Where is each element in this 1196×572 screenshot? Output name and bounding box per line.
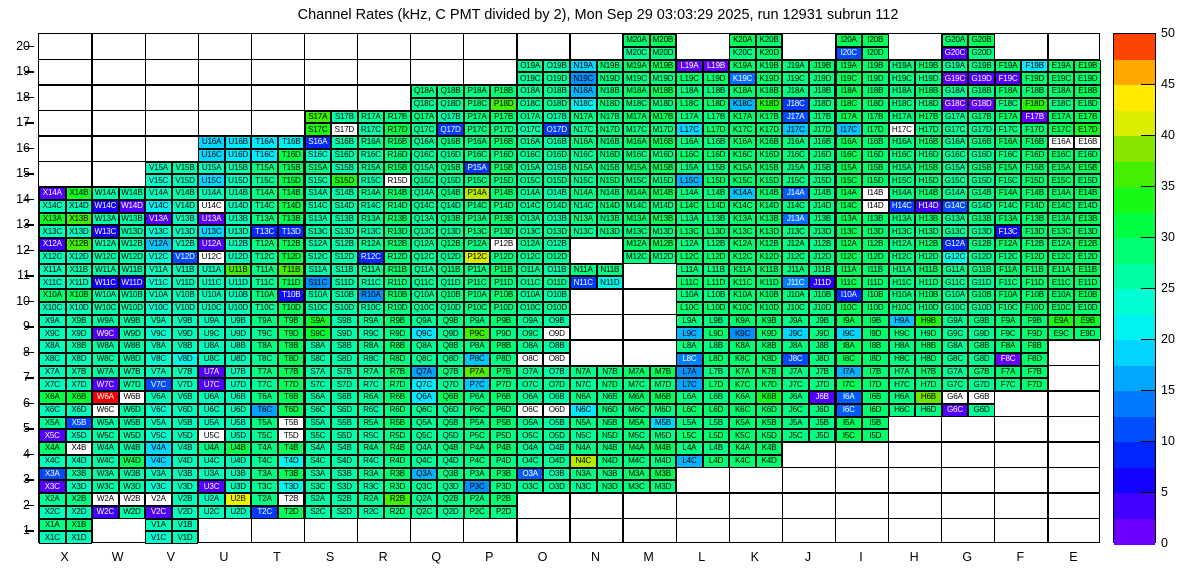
channel-cell[interactable]: V13B [172, 213, 199, 226]
channel-cell[interactable]: U7A [198, 366, 225, 379]
channel-cell[interactable]: I9D [862, 327, 889, 340]
channel-cell[interactable]: K12D [756, 251, 783, 264]
channel-cell[interactable]: H6B [915, 391, 942, 404]
channel-cell[interactable]: T5A [251, 417, 278, 430]
channel-cell[interactable]: J19C [782, 72, 809, 85]
channel-cell[interactable]: S5A [305, 417, 332, 430]
channel-cell[interactable]: L19B [703, 60, 730, 73]
channel-cell[interactable]: P6D [490, 404, 517, 417]
channel-cell[interactable]: H10D [915, 302, 942, 315]
channel-cell[interactable]: Q14D [437, 200, 464, 213]
channel-cell[interactable]: R5D [384, 429, 411, 442]
channel-cell[interactable]: U7C [198, 378, 225, 391]
channel-cell[interactable]: W6D [119, 404, 146, 417]
channel-cell[interactable]: H18B [915, 85, 942, 98]
channel-cell[interactable]: T4C [251, 455, 278, 468]
channel-cell[interactable]: S11A [305, 264, 332, 277]
channel-cell[interactable]: W8D [119, 353, 146, 366]
channel-cell[interactable]: E13B [1074, 213, 1101, 226]
channel-cell[interactable]: Q3A [411, 468, 438, 481]
channel-cell[interactable]: G6A [942, 391, 969, 404]
channel-cell[interactable]: I9B [862, 315, 889, 328]
channel-cell[interactable]: I18B [862, 85, 889, 98]
channel-cell[interactable]: X13B [66, 213, 93, 226]
channel-cell[interactable]: M5B [650, 417, 677, 430]
channel-cell[interactable]: Q11B [437, 264, 464, 277]
channel-cell[interactable]: G20B [968, 34, 995, 47]
channel-cell[interactable]: P14B [490, 187, 517, 200]
channel-cell[interactable]: P8B [490, 340, 517, 353]
channel-cell[interactable]: Q17A [411, 111, 438, 124]
channel-cell[interactable]: S11D [331, 276, 358, 289]
channel-cell[interactable]: H16A [889, 136, 916, 149]
channel-cell[interactable]: H7D [915, 378, 942, 391]
channel-cell[interactable]: O10C [517, 302, 544, 315]
channel-cell[interactable]: M20C [623, 47, 650, 60]
channel-cell[interactable]: N6B [597, 391, 624, 404]
channel-cell[interactable]: P15A [464, 162, 491, 175]
channel-cell[interactable]: V4C [145, 455, 172, 468]
channel-cell[interactable]: E18B [1074, 85, 1101, 98]
channel-cell[interactable]: F12D [1021, 251, 1048, 264]
channel-cell[interactable]: T6B [278, 391, 305, 404]
channel-cell[interactable]: V3B [172, 468, 199, 481]
channel-cell[interactable]: H14B [915, 187, 942, 200]
channel-cell[interactable]: H16D [915, 149, 942, 162]
channel-cell[interactable]: M19B [650, 60, 677, 73]
channel-cell[interactable]: K19D [756, 72, 783, 85]
channel-cell[interactable]: F16D [1021, 149, 1048, 162]
channel-cell[interactable]: P14C [464, 200, 491, 213]
channel-cell[interactable]: W3C [92, 480, 119, 493]
channel-cell[interactable]: Q16B [437, 136, 464, 149]
channel-cell[interactable]: M13C [623, 225, 650, 238]
channel-cell[interactable]: Q2D [437, 506, 464, 519]
channel-cell[interactable]: K14B [756, 187, 783, 200]
channel-cell[interactable]: P15B [490, 162, 517, 175]
channel-cell[interactable]: E10C [1048, 302, 1075, 315]
channel-cell[interactable]: G8C [942, 353, 969, 366]
channel-cell[interactable]: L6B [703, 391, 730, 404]
channel-cell[interactable]: H8A [889, 340, 916, 353]
channel-cell[interactable]: S13A [305, 213, 332, 226]
channel-cell[interactable]: I17D [862, 123, 889, 136]
channel-cell[interactable]: K8D [756, 353, 783, 366]
channel-cell[interactable]: E14B [1074, 187, 1101, 200]
channel-cell[interactable]: L7D [703, 378, 730, 391]
channel-cell[interactable]: V15B [172, 162, 199, 175]
channel-cell[interactable]: T15D [278, 174, 305, 187]
channel-cell[interactable]: S9D [331, 327, 358, 340]
channel-cell[interactable]: P2D [490, 506, 517, 519]
channel-cell[interactable]: K18A [729, 85, 756, 98]
channel-cell[interactable]: V13C [145, 225, 172, 238]
channel-cell[interactable]: L9A [676, 315, 703, 328]
channel-cell[interactable]: T2B [278, 493, 305, 506]
channel-cell[interactable]: S4A [305, 442, 332, 455]
channel-cell[interactable]: F13C [995, 225, 1022, 238]
channel-cell[interactable]: G18C [942, 98, 969, 111]
channel-cell[interactable]: M15A [623, 162, 650, 175]
channel-cell[interactable]: X7A [39, 366, 66, 379]
channel-cell[interactable]: L10B [703, 289, 730, 302]
channel-cell[interactable]: W9A [92, 315, 119, 328]
channel-cell[interactable]: U4D [225, 455, 252, 468]
channel-cell[interactable]: K9B [756, 315, 783, 328]
channel-cell[interactable]: F7B [1021, 366, 1048, 379]
channel-cell[interactable]: L6C [676, 404, 703, 417]
channel-cell[interactable]: K6A [729, 391, 756, 404]
channel-cell[interactable]: O11D [543, 276, 570, 289]
channel-cell[interactable]: M14A [623, 187, 650, 200]
channel-cell[interactable]: J15A [782, 162, 809, 175]
channel-cell[interactable]: L18B [703, 85, 730, 98]
channel-cell[interactable]: I17A [836, 111, 863, 124]
channel-cell[interactable]: J19B [809, 60, 836, 73]
channel-cell[interactable]: U9C [198, 327, 225, 340]
channel-cell[interactable]: H8C [889, 353, 916, 366]
channel-cell[interactable]: F9B [1021, 315, 1048, 328]
channel-cell[interactable]: P14A [464, 187, 491, 200]
channel-cell[interactable]: M7A [623, 366, 650, 379]
channel-cell[interactable]: R3D [384, 480, 411, 493]
channel-cell[interactable]: W6A [92, 391, 119, 404]
channel-cell[interactable]: E14D [1074, 200, 1101, 213]
channel-cell[interactable]: J11D [809, 276, 836, 289]
channel-cell[interactable]: G20D [968, 47, 995, 60]
channel-cell[interactable]: J17D [809, 123, 836, 136]
channel-cell[interactable]: I13C [836, 225, 863, 238]
channel-cell[interactable]: H19C [889, 72, 916, 85]
channel-cell[interactable]: U8B [225, 340, 252, 353]
channel-cell[interactable]: S10B [331, 289, 358, 302]
channel-cell[interactable]: H8D [915, 353, 942, 366]
channel-cell[interactable]: I18A [836, 85, 863, 98]
channel-cell[interactable]: S12B [331, 238, 358, 251]
channel-cell[interactable]: O10B [543, 289, 570, 302]
channel-cell[interactable]: M18B [650, 85, 677, 98]
channel-cell[interactable]: F10C [995, 302, 1022, 315]
channel-cell[interactable]: W11D [119, 276, 146, 289]
channel-cell[interactable]: F15C [995, 174, 1022, 187]
channel-cell[interactable]: X8D [66, 353, 93, 366]
channel-cell[interactable]: S14A [305, 187, 332, 200]
channel-cell[interactable]: R4D [384, 455, 411, 468]
channel-cell[interactable]: L19C [676, 72, 703, 85]
channel-cell[interactable]: N11C [570, 276, 597, 289]
channel-cell[interactable]: V5A [145, 417, 172, 430]
channel-cell[interactable]: T2D [278, 506, 305, 519]
channel-cell[interactable]: N4A [570, 442, 597, 455]
channel-cell[interactable]: V11A [145, 264, 172, 277]
channel-cell[interactable]: R10A [358, 289, 385, 302]
channel-cell[interactable]: M18D [650, 98, 677, 111]
channel-cell[interactable]: O15B [543, 162, 570, 175]
channel-cell[interactable]: Q14A [411, 187, 438, 200]
channel-cell[interactable]: O18D [543, 98, 570, 111]
channel-cell[interactable]: H19B [915, 60, 942, 73]
channel-cell[interactable]: P3A [464, 468, 491, 481]
channel-cell[interactable]: M12D [650, 251, 677, 264]
channel-cell[interactable]: N17B [597, 111, 624, 124]
channel-cell[interactable]: M20B [650, 34, 677, 47]
channel-cell[interactable]: Q18D [437, 98, 464, 111]
channel-cell[interactable]: J7B [809, 366, 836, 379]
channel-cell[interactable]: L6A [676, 391, 703, 404]
channel-cell[interactable]: H16B [915, 136, 942, 149]
channel-cell[interactable]: E16C [1048, 149, 1075, 162]
channel-cell[interactable]: M17D [650, 123, 677, 136]
channel-cell[interactable]: S8D [331, 353, 358, 366]
channel-cell[interactable]: E19A [1048, 60, 1075, 73]
channel-cell[interactable]: S5B [331, 417, 358, 430]
channel-cell[interactable]: K8B [756, 340, 783, 353]
channel-cell[interactable]: T15C [251, 174, 278, 187]
channel-cell[interactable]: X5A [39, 417, 66, 430]
channel-cell[interactable]: I10A [836, 289, 863, 302]
channel-cell[interactable]: I9C [836, 327, 863, 340]
channel-cell[interactable]: G19A [942, 60, 969, 73]
channel-cell[interactable]: O12B [543, 238, 570, 251]
channel-cell[interactable]: R16B [384, 136, 411, 149]
channel-cell[interactable]: O13D [543, 225, 570, 238]
channel-cell[interactable]: O15A [517, 162, 544, 175]
channel-cell[interactable]: T5D [278, 429, 305, 442]
channel-cell[interactable]: J17A [782, 111, 809, 124]
channel-cell[interactable]: G20C [942, 47, 969, 60]
channel-cell[interactable]: T8C [251, 353, 278, 366]
channel-cell[interactable]: W4B [119, 442, 146, 455]
channel-cell[interactable]: E12B [1074, 238, 1101, 251]
channel-cell[interactable]: H17B [915, 111, 942, 124]
channel-cell[interactable]: S16D [331, 149, 358, 162]
channel-cell[interactable]: R2D [384, 506, 411, 519]
channel-cell[interactable]: X2C [39, 506, 66, 519]
channel-cell[interactable]: I15A [836, 162, 863, 175]
channel-cell[interactable]: W8A [92, 340, 119, 353]
channel-cell[interactable]: Q18C [411, 98, 438, 111]
channel-cell[interactable]: N15C [570, 174, 597, 187]
channel-cell[interactable]: W4D [119, 455, 146, 468]
channel-cell[interactable]: T7B [278, 366, 305, 379]
channel-cell[interactable]: X14C [39, 200, 66, 213]
channel-cell[interactable]: I18C [836, 98, 863, 111]
channel-cell[interactable]: G9A [942, 315, 969, 328]
channel-cell[interactable]: P9B [490, 315, 517, 328]
channel-cell[interactable]: R3B [384, 468, 411, 481]
channel-cell[interactable]: S7A [305, 366, 332, 379]
channel-cell[interactable]: I13D [862, 225, 889, 238]
channel-cell[interactable]: K20A [729, 34, 756, 47]
channel-cell[interactable]: U2D [225, 506, 252, 519]
channel-cell[interactable]: H6C [889, 404, 916, 417]
channel-cell[interactable]: M13D [650, 225, 677, 238]
channel-cell[interactable]: I5B [862, 417, 889, 430]
channel-cell[interactable]: V15A [145, 162, 172, 175]
channel-cell[interactable]: J15C [782, 174, 809, 187]
channel-cell[interactable]: F19B [1021, 60, 1048, 73]
channel-cell[interactable]: E18D [1074, 98, 1101, 111]
channel-cell[interactable]: J10A [782, 289, 809, 302]
channel-cell[interactable]: U9D [225, 327, 252, 340]
channel-cell[interactable]: R12B [384, 238, 411, 251]
channel-cell[interactable]: K16A [729, 136, 756, 149]
channel-cell[interactable]: O18B [543, 85, 570, 98]
channel-cell[interactable]: S16A [305, 136, 332, 149]
channel-cell[interactable]: O15C [517, 174, 544, 187]
channel-cell[interactable]: Q15D [437, 174, 464, 187]
channel-cell[interactable]: P16A [464, 136, 491, 149]
channel-cell[interactable]: F10D [1021, 302, 1048, 315]
channel-cell[interactable]: W2D [119, 506, 146, 519]
channel-cell[interactable]: X10A [39, 289, 66, 302]
channel-cell[interactable]: S16C [305, 149, 332, 162]
channel-cell[interactable]: S3A [305, 468, 332, 481]
channel-cell[interactable]: H8B [915, 340, 942, 353]
channel-cell[interactable]: Q18B [437, 85, 464, 98]
channel-cell[interactable]: K5C [729, 429, 756, 442]
channel-cell[interactable]: O19B [543, 60, 570, 73]
channel-cell[interactable]: K6D [756, 404, 783, 417]
channel-cell[interactable]: M6C [623, 404, 650, 417]
channel-cell[interactable]: L15D [703, 174, 730, 187]
channel-cell[interactable]: S15B [331, 162, 358, 175]
channel-cell[interactable]: X11D [66, 276, 93, 289]
channel-cell[interactable]: J9B [809, 315, 836, 328]
channel-cell[interactable]: G11D [968, 276, 995, 289]
channel-cell[interactable]: N19C [570, 72, 597, 85]
channel-cell[interactable]: K9C [729, 327, 756, 340]
channel-cell[interactable]: T16D [278, 149, 305, 162]
channel-cell[interactable]: U8C [198, 353, 225, 366]
channel-cell[interactable]: O14A [517, 187, 544, 200]
channel-cell[interactable]: W7B [119, 366, 146, 379]
channel-cell[interactable]: K4D [756, 455, 783, 468]
channel-cell[interactable]: K5D [756, 429, 783, 442]
channel-cell[interactable]: U6B [225, 391, 252, 404]
channel-cell[interactable]: X2B [66, 493, 93, 506]
channel-cell[interactable]: Q10A [411, 289, 438, 302]
channel-cell[interactable]: P3B [490, 468, 517, 481]
channel-cell[interactable]: P18B [490, 85, 517, 98]
channel-cell[interactable]: J14D [809, 200, 836, 213]
channel-cell[interactable]: S10D [331, 302, 358, 315]
channel-cell[interactable]: K12C [729, 251, 756, 264]
channel-cell[interactable]: P9A [464, 315, 491, 328]
channel-cell[interactable]: M6B [650, 391, 677, 404]
channel-cell[interactable]: P4C [464, 455, 491, 468]
channel-cell[interactable]: H7B [915, 366, 942, 379]
channel-cell[interactable]: E16A [1048, 136, 1075, 149]
channel-cell[interactable]: K17B [756, 111, 783, 124]
channel-cell[interactable]: E17D [1074, 123, 1101, 136]
channel-cell[interactable]: G14A [942, 187, 969, 200]
channel-cell[interactable]: U4B [225, 442, 252, 455]
channel-cell[interactable]: X8C [39, 353, 66, 366]
channel-cell[interactable]: G18B [968, 85, 995, 98]
channel-cell[interactable]: X13A [39, 213, 66, 226]
channel-cell[interactable]: P6A [464, 391, 491, 404]
channel-cell[interactable]: N19A [570, 60, 597, 73]
channel-cell[interactable]: I5D [862, 429, 889, 442]
channel-cell[interactable]: T15A [251, 162, 278, 175]
channel-cell[interactable]: P9C [464, 327, 491, 340]
channel-cell[interactable]: X12D [66, 251, 93, 264]
channel-cell[interactable]: O19A [517, 60, 544, 73]
channel-cell[interactable]: O5A [517, 417, 544, 430]
channel-cell[interactable]: N19B [597, 60, 624, 73]
channel-cell[interactable]: R16D [384, 149, 411, 162]
channel-cell[interactable]: F13D [1021, 225, 1048, 238]
channel-cell[interactable]: K4C [729, 455, 756, 468]
channel-cell[interactable]: U12C [198, 251, 225, 264]
channel-cell[interactable]: N5A [570, 417, 597, 430]
channel-cell[interactable]: W13C [92, 225, 119, 238]
channel-cell[interactable]: O11B [543, 264, 570, 277]
channel-cell[interactable]: U10D [225, 302, 252, 315]
channel-cell[interactable]: H10A [889, 289, 916, 302]
channel-cell[interactable]: S14D [331, 200, 358, 213]
channel-cell[interactable]: M5D [650, 429, 677, 442]
channel-cell[interactable]: F11B [1021, 264, 1048, 277]
channel-cell[interactable]: T12D [278, 251, 305, 264]
channel-cell[interactable]: K16C [729, 149, 756, 162]
channel-cell[interactable]: V9D [172, 327, 199, 340]
channel-cell[interactable]: P10D [490, 302, 517, 315]
channel-cell[interactable]: K9A [729, 315, 756, 328]
channel-cell[interactable]: T6A [251, 391, 278, 404]
channel-cell[interactable]: W3B [119, 468, 146, 481]
channel-cell[interactable]: S13C [305, 225, 332, 238]
channel-cell[interactable]: R14A [358, 187, 385, 200]
channel-cell[interactable]: W6C [92, 404, 119, 417]
channel-cell[interactable]: V5C [145, 429, 172, 442]
channel-cell[interactable]: L8C [676, 353, 703, 366]
channel-cell[interactable]: E10B [1074, 289, 1101, 302]
channel-cell[interactable]: K15B [756, 162, 783, 175]
channel-cell[interactable]: X2A [39, 493, 66, 506]
channel-cell[interactable]: U12D [225, 251, 252, 264]
channel-cell[interactable]: L17D [703, 123, 730, 136]
channel-cell[interactable]: X7D [66, 378, 93, 391]
channel-cell[interactable]: W8B [119, 340, 146, 353]
channel-cell[interactable]: W11C [92, 276, 119, 289]
channel-cell[interactable]: L12A [676, 238, 703, 251]
channel-cell[interactable]: T16A [251, 136, 278, 149]
channel-cell[interactable]: O8C [517, 353, 544, 366]
channel-cell[interactable]: Q4B [437, 442, 464, 455]
channel-cell[interactable]: Q8A [411, 340, 438, 353]
channel-cell[interactable]: K4A [729, 442, 756, 455]
channel-cell[interactable]: Q3C [411, 480, 438, 493]
channel-cell[interactable]: P17B [490, 111, 517, 124]
channel-cell[interactable]: X11A [39, 264, 66, 277]
channel-cell[interactable]: P17C [464, 123, 491, 136]
channel-cell[interactable]: N18C [570, 98, 597, 111]
channel-cell[interactable]: K8A [729, 340, 756, 353]
channel-cell[interactable]: S2C [305, 506, 332, 519]
channel-cell[interactable]: X4D [66, 455, 93, 468]
channel-cell[interactable]: L4C [676, 455, 703, 468]
channel-cell[interactable]: O7C [517, 378, 544, 391]
channel-cell[interactable]: P5D [490, 429, 517, 442]
channel-cell[interactable]: P18D [490, 98, 517, 111]
channel-cell[interactable]: M16D [650, 149, 677, 162]
channel-cell[interactable]: Q15B [437, 162, 464, 175]
channel-cell[interactable]: S9A [305, 315, 332, 328]
channel-cell[interactable]: P7A [464, 366, 491, 379]
channel-cell[interactable]: F15D [1021, 174, 1048, 187]
